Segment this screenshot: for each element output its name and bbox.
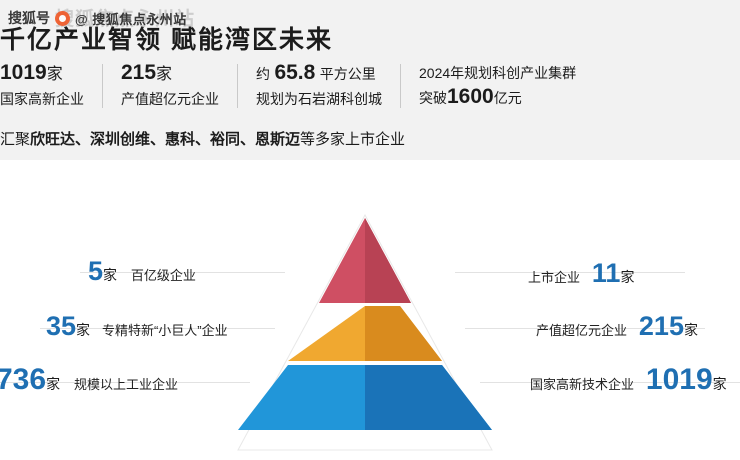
pyramid-section: 5家 百亿级企业 35家 专精特新“小巨人”企业 736家 规模以上工业企业 上… (0, 160, 740, 460)
stat-4-title: 2024年规划科创产业集群 (419, 62, 576, 84)
stat-3-value-line: 约 65.8 平方公里 (256, 62, 382, 86)
stat-1-value: 1019 (0, 61, 47, 84)
level-1-right-label: 上市企业 11家 (528, 260, 634, 287)
stat-2-value: 215 (121, 61, 156, 84)
level-2-right-text: 产值超亿元企业 (536, 323, 627, 338)
stat-item-3: 约 65.8 平方公里 规划为石岩湖科创城 (256, 62, 400, 110)
stat-1-unit: 家 (47, 66, 63, 83)
level-3-right-number: 1019 (646, 363, 713, 396)
footnote-prefix: 汇聚 (0, 131, 30, 148)
level-2-left-label: 35家 专精特新“小巨人”企业 (46, 313, 228, 340)
level-1-left-text: 百亿级企业 (131, 268, 196, 283)
stat-divider-1 (102, 64, 103, 108)
level-3-right-label: 国家高新技术企业 1019家 (530, 365, 727, 395)
stat-item-1: 1019家 国家高新企业 (0, 62, 102, 110)
level-1-left-unit: 家 (103, 267, 117, 283)
level-2-right-number: 215 (639, 311, 684, 341)
stat-4-value: 1600 (447, 85, 494, 108)
stat-divider-3 (400, 64, 401, 108)
level-3-left-unit: 家 (46, 376, 60, 392)
footnote-suffix: 等多家上市企业 (300, 131, 405, 148)
level-2-left-number: 35 (46, 311, 76, 341)
banner-stats-row: 1019家 国家高新企业 215家 产值超亿元企业 约 65.8 平方公里 规划… (0, 62, 740, 114)
stat-3-prefix: 约 (256, 66, 270, 82)
level-2-left-text: 专精特新“小巨人”企业 (102, 323, 228, 338)
level-1-right-unit: 家 (620, 269, 634, 285)
pyramid-level-1-shade (365, 218, 411, 303)
level-2-left-unit: 家 (76, 322, 90, 338)
stat-3-value: 65.8 (274, 61, 315, 84)
sohu-logo-icon (55, 11, 70, 26)
level-3-right-unit: 家 (713, 376, 727, 392)
stat-2-desc: 产值超亿元企业 (121, 88, 219, 110)
pyramid-level-3-shade (365, 365, 492, 430)
stat-1-value-line: 1019家 (0, 62, 84, 86)
stat-4-unit: 亿元 (494, 90, 522, 106)
pyramid-level-2-shade (365, 306, 442, 361)
pyramid-graphic (0, 160, 740, 460)
stat-4-value-line: 突破1600亿元 (419, 86, 576, 109)
stat-3-unit: 平方公里 (320, 66, 376, 82)
level-1-left-label: 5家 百亿级企业 (88, 258, 196, 285)
watermark-brand: 搜狐号 (8, 8, 50, 28)
stat-2-unit: 家 (156, 66, 172, 83)
watermark: 搜狐号 @ 搜狐焦点永州站 (8, 8, 187, 28)
level-1-left-number: 5 (88, 256, 103, 286)
level-3-right-text: 国家高新技术企业 (530, 377, 634, 392)
banner-footnote: 汇聚欣旺达、深圳创维、惠科、裕同、恩斯迈等多家上市企业 (0, 128, 405, 149)
level-2-right-unit: 家 (684, 322, 698, 338)
stat-1-desc: 国家高新企业 (0, 88, 84, 110)
stat-item-2: 215家 产值超亿元企业 (121, 62, 237, 110)
stat-3-desc: 规划为石岩湖科创城 (256, 88, 382, 110)
stat-item-4: 2024年规划科创产业集群 突破1600亿元 (419, 62, 594, 109)
stat-4-prefix: 突破 (419, 90, 447, 106)
watermark-sub: @ 搜狐焦点永州站 (75, 9, 187, 28)
level-3-left-number: 736 (0, 363, 46, 396)
level-1-right-number: 11 (592, 258, 621, 288)
level-3-left-label: 736家 规模以上工业企业 (0, 365, 178, 395)
level-2-right-label: 产值超亿元企业 215家 (536, 313, 698, 340)
level-1-right-text: 上市企业 (528, 270, 580, 285)
stat-divider-2 (237, 64, 238, 108)
level-3-left-text: 规模以上工业企业 (74, 377, 178, 392)
stat-2-value-line: 215家 (121, 62, 219, 86)
footnote-companies: 欣旺达、深圳创维、惠科、裕同、恩斯迈 (30, 131, 300, 148)
